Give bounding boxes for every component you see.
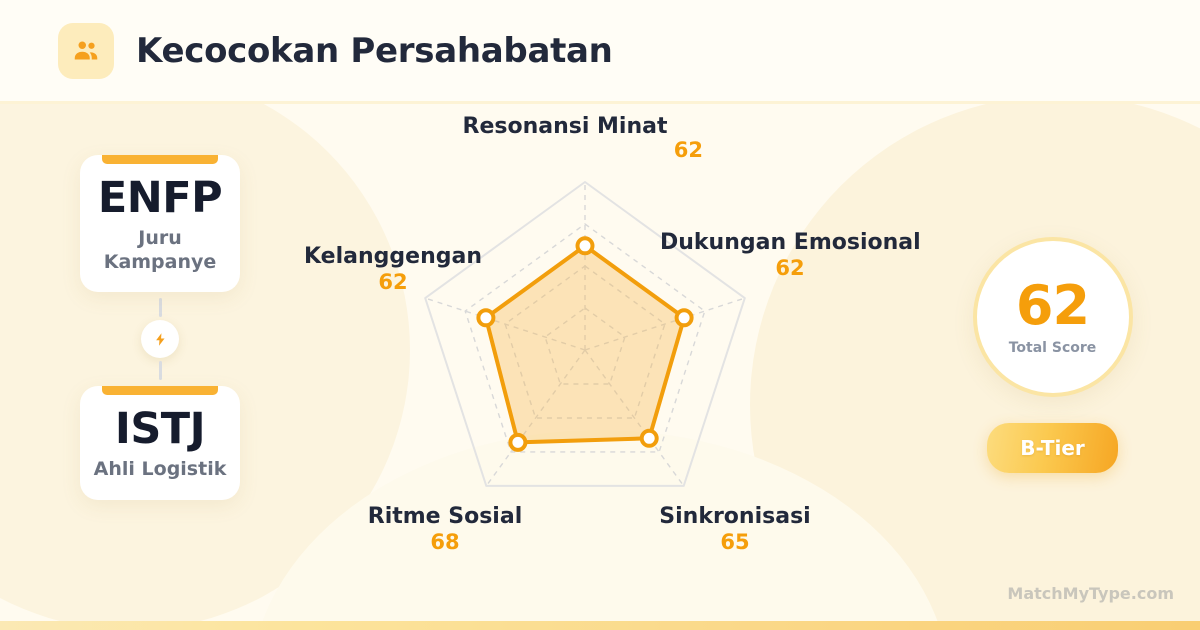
axis-name-3: Ritme Sosial <box>368 504 522 529</box>
axis-name-0: Resonansi Minat <box>463 114 668 139</box>
card-accent-bar <box>102 386 218 395</box>
card-accent-bar <box>102 155 218 164</box>
page-header: Kecocokan Persahabatan <box>0 0 1200 104</box>
personality-code-first: ENFP <box>90 177 230 221</box>
bottom-accent-bar <box>0 621 1200 630</box>
connector-line-top <box>159 298 162 317</box>
site-watermark: MatchMyType.com <box>1007 584 1174 603</box>
personality-pair: ENFP Juru Kampanye ISTJ Ahli Logistik <box>80 155 240 500</box>
pair-connector <box>141 298 179 380</box>
axis-label-sinkronisasi: Sinkronisasi 65 <box>610 504 860 555</box>
axis-label-dukungan-emosional: Dukungan Emosional 62 <box>660 230 920 281</box>
personality-card-first[interactable]: ENFP Juru Kampanye <box>80 155 240 292</box>
axis-label-resonansi-minat: Resonansi Minat 62 <box>435 114 695 140</box>
tier-badge: B-Tier <box>987 423 1118 473</box>
total-score-value: 62 <box>1016 279 1089 333</box>
score-panel: 62 Total Score B-Tier <box>970 237 1135 473</box>
total-score-caption: Total Score <box>1009 340 1097 356</box>
lightning-bolt-icon <box>141 320 179 358</box>
axis-value-4: 62 <box>378 270 407 294</box>
personality-name-second: Ahli Logistik <box>90 458 230 482</box>
axis-value-2: 65 <box>720 530 749 554</box>
page-title: Kecocokan Persahabatan <box>136 31 613 71</box>
axis-label-kelanggengan: Kelanggengan 62 <box>258 244 528 295</box>
axis-value-1: 62 <box>775 256 804 280</box>
personality-code-second: ISTJ <box>90 408 230 452</box>
personality-name-first: Juru Kampanye <box>90 227 230 275</box>
total-score-circle: 62 Total Score <box>973 237 1133 397</box>
axis-label-ritme-sosial: Ritme Sosial 68 <box>320 504 570 555</box>
axis-name-1: Dukungan Emosional <box>660 230 921 255</box>
people-group-icon <box>58 23 114 79</box>
axis-name-4: Kelanggengan <box>304 244 482 269</box>
axis-value-3: 68 <box>430 530 459 554</box>
connector-line-bottom <box>159 361 162 380</box>
compatibility-radar-chart: Resonansi Minat 62 Dukungan Emosional 62… <box>280 104 900 604</box>
axis-value-0: 62 <box>674 138 703 162</box>
axis-name-2: Sinkronisasi <box>659 504 810 529</box>
personality-card-second[interactable]: ISTJ Ahli Logistik <box>80 386 240 500</box>
